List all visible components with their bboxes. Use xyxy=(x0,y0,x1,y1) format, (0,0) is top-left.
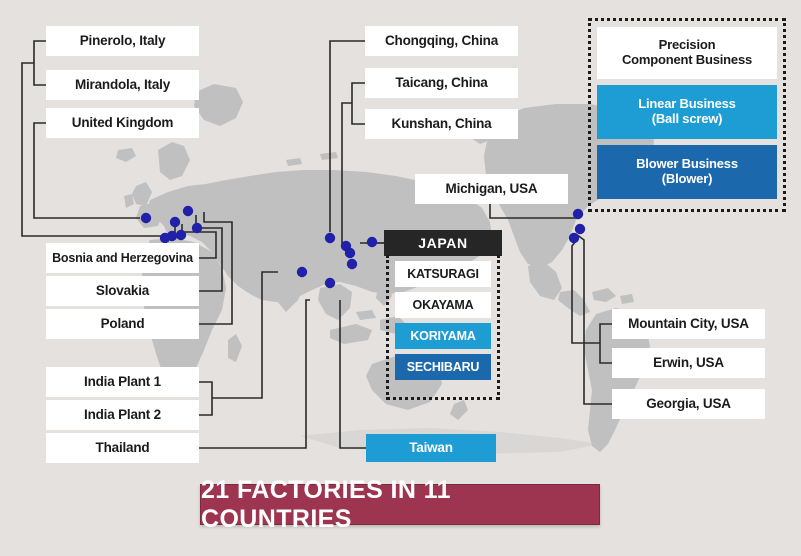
label-erwin-usa[interactable]: Erwin, USA xyxy=(612,348,765,378)
label-mirandola-italy[interactable]: Mirandola, Italy xyxy=(46,70,199,100)
map-marker xyxy=(176,230,186,240)
map-marker xyxy=(170,217,180,227)
label-india-plant-1[interactable]: India Plant 1 xyxy=(46,367,199,397)
japan-panel: KATSURAGI OKAYAMA KORIYAMA SECHIBARU xyxy=(386,255,500,400)
map-marker xyxy=(569,233,579,243)
japan-site-katsuragi[interactable]: KATSURAGI xyxy=(395,261,491,287)
map-marker xyxy=(325,233,335,243)
legend-item-blower-business[interactable]: Blower Business (Blower) xyxy=(597,145,777,199)
map-marker xyxy=(325,278,335,288)
label-michigan-usa[interactable]: Michigan, USA xyxy=(415,174,568,204)
business-legend: Precision Component Business Linear Busi… xyxy=(588,18,786,212)
japan-panel-title: JAPAN xyxy=(384,230,502,256)
label-bosnia-and-herzegovina[interactable]: Bosnia and Herzegovina xyxy=(46,243,199,273)
japan-site-okayama[interactable]: OKAYAMA xyxy=(395,292,491,318)
summary-banner: 21 FACTORIES IN 11 COUNTRIES xyxy=(200,484,600,525)
map-marker xyxy=(347,259,357,269)
legend-line-2: Component Business xyxy=(622,53,752,68)
legend-item-precision-component-business[interactable]: Precision Component Business xyxy=(597,27,777,79)
label-chongqing-china[interactable]: Chongqing, China xyxy=(365,26,518,56)
map-marker xyxy=(345,248,355,258)
label-kunshan-china[interactable]: Kunshan, China xyxy=(365,109,518,139)
map-marker xyxy=(167,231,177,241)
legend-line-2: (Ball screw) xyxy=(652,112,723,127)
map-marker xyxy=(575,224,585,234)
legend-line-1: Blower Business xyxy=(636,157,738,172)
legend-line-1: Precision xyxy=(659,38,716,53)
map-marker xyxy=(367,237,377,247)
japan-site-koriyama[interactable]: KORIYAMA xyxy=(395,323,491,349)
label-thailand[interactable]: Thailand xyxy=(46,433,199,463)
infographic-root: Pinerolo, Italy Mirandola, Italy United … xyxy=(0,0,801,556)
label-india-plant-2[interactable]: India Plant 2 xyxy=(46,400,199,430)
label-taiwan[interactable]: Taiwan xyxy=(366,434,496,462)
japan-site-sechibaru[interactable]: SECHIBARU xyxy=(395,354,491,380)
map-marker xyxy=(183,206,193,216)
map-marker xyxy=(573,209,583,219)
map-marker xyxy=(192,223,202,233)
map-marker xyxy=(141,213,151,223)
label-slovakia[interactable]: Slovakia xyxy=(46,276,199,306)
legend-item-linear-business[interactable]: Linear Business (Ball screw) xyxy=(597,85,777,139)
label-united-kingdom[interactable]: United Kingdom xyxy=(46,108,199,138)
label-taicang-china[interactable]: Taicang, China xyxy=(365,68,518,98)
legend-line-1: Linear Business xyxy=(638,97,735,112)
label-pinerolo-italy[interactable]: Pinerolo, Italy xyxy=(46,26,199,56)
legend-line-2: (Blower) xyxy=(662,172,712,187)
map-marker xyxy=(297,267,307,277)
label-poland[interactable]: Poland xyxy=(46,309,199,339)
label-georgia-usa[interactable]: Georgia, USA xyxy=(612,389,765,419)
label-mountain-city-usa[interactable]: Mountain City, USA xyxy=(612,309,765,339)
